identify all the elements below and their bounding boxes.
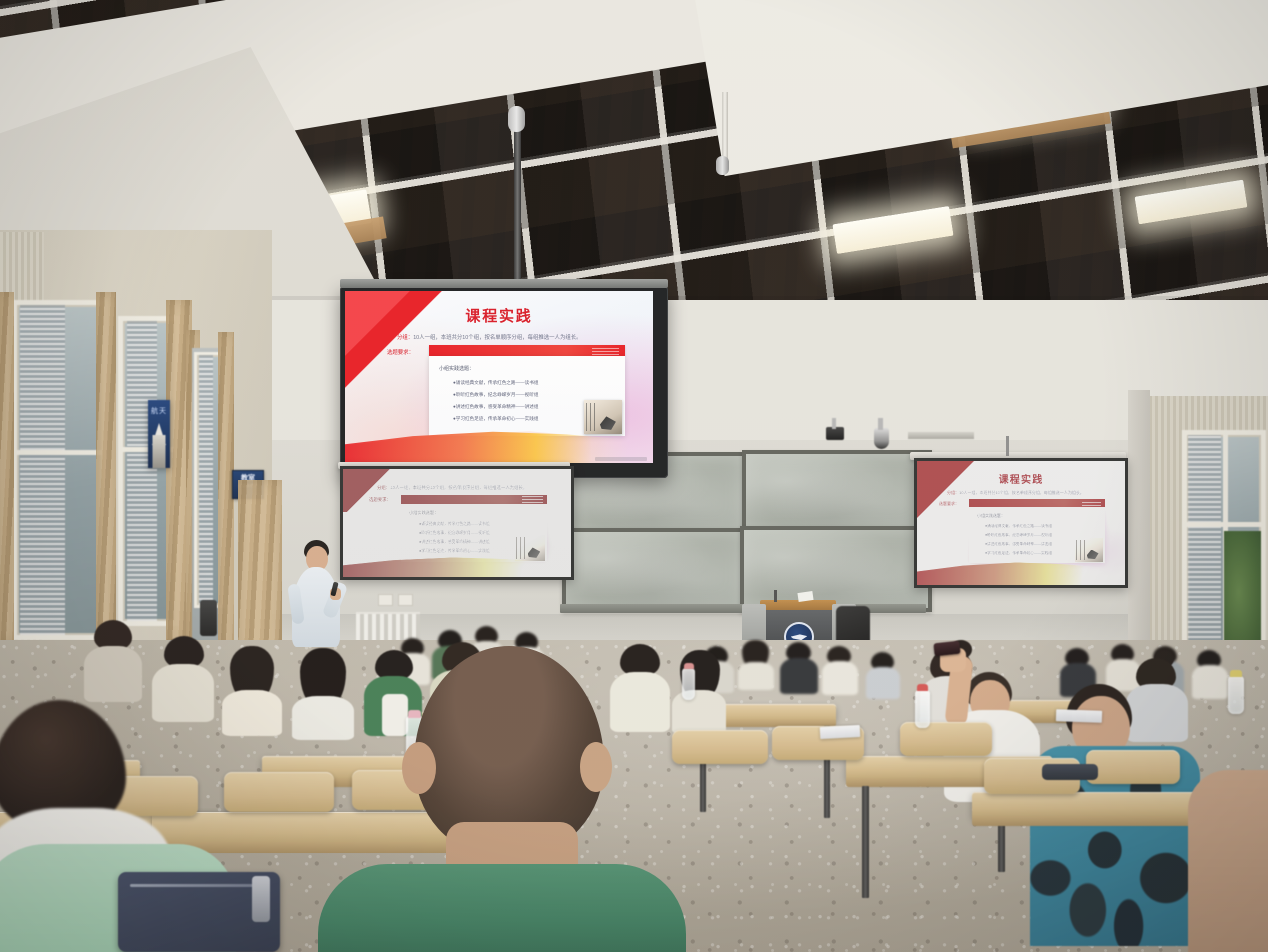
- classroom-photo: 航天 教室 多媒体教室: [0, 0, 1268, 952]
- slide-bullet: ●诵读经典文献，传承红色之路——读书组: [453, 380, 538, 386]
- backpack-zipper: [130, 884, 262, 887]
- chalk-residue: [566, 532, 742, 608]
- slide-bullet: ●讲述红色故事，感受革命精神——讲述组: [985, 542, 1052, 547]
- water-bottle: [1228, 676, 1244, 714]
- cable-tray: [908, 432, 974, 439]
- slide-banner-stamp: [522, 496, 542, 504]
- student-ear: [402, 742, 436, 794]
- window-blind: [20, 305, 65, 635]
- slide-bullet: ●学习红色足迹，传承革命初心——实践组: [419, 549, 490, 554]
- wall-tv-display[interactable]: 课程实践 分组：10人一组，本班共分10个组，按名单顺序分组，每组推选一人为组长…: [340, 286, 668, 478]
- sprinkler-drop-pipe: [722, 92, 728, 160]
- dome-camera-icon: [874, 428, 889, 449]
- lower-projection-screen[interactable]: 分组：10人一组，本班共分10个组，按名单顺序分组，每组推选一人为组长。 选题要…: [340, 466, 574, 580]
- student-foreground-center: [318, 646, 686, 952]
- camera-mount-bracket: [878, 418, 883, 430]
- slide-bullet: ●聆听红色故事，纪念峥嵘岁月——视听组: [419, 531, 490, 536]
- slide-inner-card: 小组实践选题： ●诵读经典文献，传承红色之路——读书组 ●聆听红色故事，纪念峥嵘…: [429, 356, 625, 436]
- slide-main: 课程实践 分组：10人一组，本班共分10个组，按名单顺序分组，每组推选一人为组长…: [345, 291, 653, 463]
- sprinkler-head-icon: [716, 156, 729, 175]
- window-blind: [199, 355, 213, 605]
- slide-photo-text-columns: [586, 403, 599, 432]
- slide-photo-text-columns: [516, 537, 526, 559]
- notebook: [1056, 709, 1102, 723]
- slide-bullet: ●诵读经典文献，传承红色之路——读书组: [985, 524, 1052, 529]
- slide-line-1-text: 10人一组，本班共分10个组，按名单顺序分组，每组推选一人为组长。: [959, 490, 1084, 495]
- slide-inner-heading: 小组实践选题：: [977, 513, 1005, 519]
- slide-line-1-key: 分组：: [397, 335, 413, 341]
- slide-line-2-key: 选题要求：: [369, 497, 391, 503]
- slide-right: 课程实践 分组：10人一组，本班共分10个组，按名单顺序分组，每组推选一人为组长…: [917, 461, 1125, 585]
- right-wall-wood-panel: [238, 480, 282, 660]
- slide-line-1-text: 10人一组，本班共分10个组，按名单顺序分组，每组推选一人为组长。: [413, 335, 581, 341]
- chalk-residue: [746, 454, 928, 532]
- desk-edge: [972, 816, 1202, 826]
- slide-inset-photo: [1075, 538, 1103, 562]
- chair-back: [1086, 750, 1180, 784]
- slide-line-1: 分组：10人一组，本班共分10个组，按名单顺序分组，每组推选一人为组长。: [947, 490, 1084, 496]
- slide-line-1: 分组：10人一组，本班共分10个组，按名单顺序分组，每组推选一人为组长。: [397, 333, 582, 341]
- window-wood-frame: [96, 292, 116, 642]
- slide-banner-stamp: [1082, 500, 1101, 507]
- right-projection-screen[interactable]: 课程实践 分组：10人一组，本班共分10个组，按名单顺序分组，每组推选一人为组长…: [914, 458, 1128, 588]
- window-blind: [1188, 435, 1221, 653]
- slide-bullet: ●讲述红色故事，感受革命精神——讲述组: [453, 404, 538, 410]
- student-torso: [222, 690, 282, 736]
- poster-caption: 航天: [151, 406, 167, 416]
- bottle-cap: [917, 684, 928, 691]
- wall-right-corner: [1128, 390, 1150, 680]
- slide-bullet: ●讲述红色故事，感受革命精神——讲述组: [419, 540, 490, 545]
- student-edge-right: [1188, 770, 1268, 952]
- window-blind: [127, 321, 157, 621]
- slide-inner-heading: 小组实践选题：: [409, 510, 438, 516]
- chalkboard-panel-bottom-left: [562, 528, 746, 612]
- student: [866, 652, 900, 698]
- slide-inner-card: 小组实践选题： ●诵读经典文献，传承红色之路——读书组 ●聆听红色故事，纪念峥嵘…: [401, 504, 547, 562]
- student: [780, 642, 818, 694]
- lectern-mic-stand: [774, 590, 777, 602]
- wall-poster-space: 航天: [148, 400, 170, 468]
- student: [84, 620, 142, 700]
- slide-line-1-key: 分组：: [947, 490, 959, 495]
- slide-bullet: ●聆听红色故事，纪念峥嵘岁月——视听组: [985, 533, 1052, 538]
- slide-line-1-text: 10人一组，本班共分10个组，按名单顺序分组，每组推选一人为组长。: [390, 485, 527, 490]
- chair-back: [672, 730, 768, 764]
- slide-inset-photo: [515, 535, 545, 561]
- slide-line-1: 分组：10人一组，本班共分10个组，按名单顺序分组，每组推选一人为组长。: [377, 485, 527, 491]
- wall-outlet: [378, 594, 393, 606]
- window-left-1: [12, 300, 108, 640]
- slide-inner-card: 小组实践选题： ●诵读经典文献，传承红色之路——读书组 ●聆听红色故事，纪念峥嵘…: [969, 507, 1105, 563]
- slide-title: 课程实践: [917, 471, 1125, 486]
- slide-bullet: ●学习红色足迹，传承革命初心——实践组: [985, 551, 1052, 556]
- chair-back: [900, 722, 992, 756]
- student-torso: [822, 661, 858, 695]
- student: [222, 646, 282, 732]
- slide-inner-heading: 小组实践选题：: [439, 365, 474, 372]
- slide-line-2-key: 选题要求：: [939, 501, 959, 507]
- window-foliage: [1224, 531, 1261, 653]
- pencil-case: [1042, 764, 1098, 780]
- slide-photo-figure: [1087, 550, 1099, 560]
- right-screen-drop-cord: [1006, 436, 1009, 456]
- student-torso: [780, 658, 818, 694]
- projector-drop-pole: [514, 118, 521, 290]
- slide-bullet: ●学习红色足迹，传承革命初心——实践组: [453, 416, 538, 422]
- student: [822, 646, 858, 694]
- student-ear: [580, 742, 612, 792]
- slide-bullet: ●诵读经典文献，传承红色之路——读书组: [419, 522, 490, 527]
- tv-top-mount-bar: [340, 279, 668, 288]
- slide-photo-text-columns: [1076, 540, 1086, 560]
- student-torso: [738, 662, 774, 690]
- smartphone-icon[interactable]: [933, 641, 960, 657]
- slide-inset-photo: [584, 400, 622, 434]
- trash-bin: [200, 600, 217, 636]
- rocket-body-icon: [153, 435, 166, 468]
- desk-leg: [862, 786, 869, 898]
- wall-outlet: [398, 594, 413, 606]
- camera-mount-bracket: [832, 418, 836, 429]
- slide-red-banner: [969, 499, 1105, 507]
- slide-red-banner: [401, 495, 547, 504]
- slide-photo-figure: [528, 547, 541, 557]
- student-torso: [84, 646, 142, 702]
- slide-line-2-key: 选题要求：: [387, 348, 414, 356]
- slide-lower: 分组：10人一组，本班共分10个组，按名单顺序分组，每组推选一人为组长。 选题要…: [343, 469, 571, 577]
- backpack-charm: [252, 876, 270, 922]
- instructor: [288, 540, 358, 650]
- desk-far-right: [972, 792, 1202, 818]
- student-tshirt: [318, 864, 686, 952]
- projector-mount-head: [508, 106, 525, 132]
- slide-banner-stamp: [592, 346, 619, 355]
- slide-footer-note: [595, 457, 647, 461]
- water-bottle: [915, 690, 930, 728]
- student: [738, 640, 774, 688]
- slide-line-1-key: 分组：: [377, 485, 390, 490]
- student-torso: [1188, 770, 1268, 952]
- window-mullion: [17, 450, 103, 455]
- window-wood-frame: [0, 292, 14, 642]
- notebook: [820, 725, 861, 739]
- slide-title: 课程实践: [345, 305, 653, 326]
- window-right-1: [1182, 430, 1266, 658]
- slide-red-banner: [429, 345, 625, 356]
- slide-photo-figure: [600, 416, 616, 430]
- bottle-cap: [1230, 670, 1242, 677]
- slide-bullet: ●聆听红色故事，纪念峥嵘岁月——视听组: [453, 392, 538, 398]
- chalkboard-panel-top-right: [742, 450, 932, 536]
- student-torso: [866, 667, 900, 699]
